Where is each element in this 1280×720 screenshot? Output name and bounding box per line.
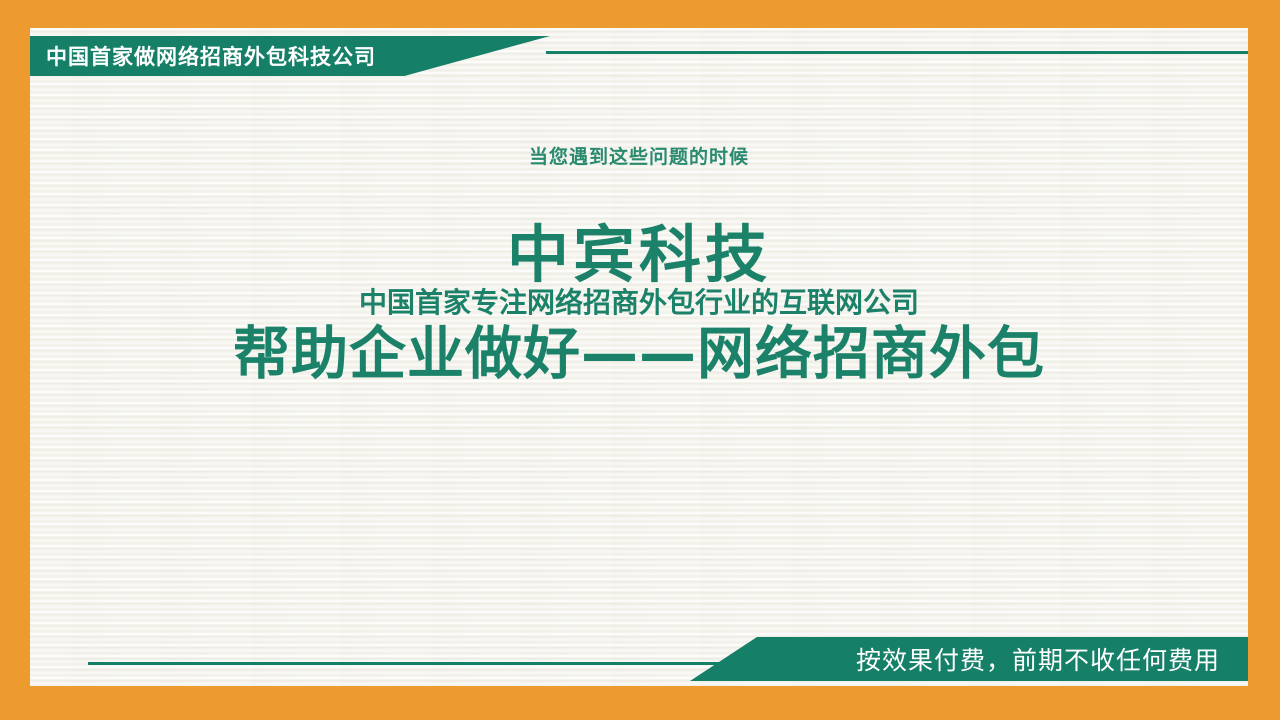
header-band-rule (546, 51, 1248, 54)
slide-page-surface: 中国首家做网络招商外包科技公司 当您遇到这些问题的时候 中宾科技 中国首家专注网… (30, 28, 1248, 686)
brand-name: 中宾科技 (30, 222, 1248, 287)
header-band: 中国首家做网络招商外包科技公司 (30, 36, 1248, 76)
footer-slogan: 按效果付费，前期不收任何费用 (856, 637, 1220, 681)
slide-content: 当您遇到这些问题的时候 中宾科技 中国首家专注网络招商外包行业的互联网公司 帮助… (30, 146, 1248, 387)
header-title: 中国首家做网络招商外包科技公司 (46, 36, 376, 76)
header-band-block (30, 36, 550, 76)
footer-band-rule (88, 662, 743, 665)
brand-tagline: 中国首家专注网络招商外包行业的互联网公司 (30, 285, 1248, 320)
main-headline: 帮助企业做好——网络招商外包 (30, 322, 1248, 388)
footer-band-block (690, 637, 1248, 681)
eyebrow-text: 当您遇到这些问题的时候 (30, 146, 1248, 169)
presentation-slide: 中国首家做网络招商外包科技公司 当您遇到这些问题的时候 中宾科技 中国首家专注网… (0, 0, 1280, 720)
footer-band: 按效果付费，前期不收任何费用 (30, 637, 1248, 681)
